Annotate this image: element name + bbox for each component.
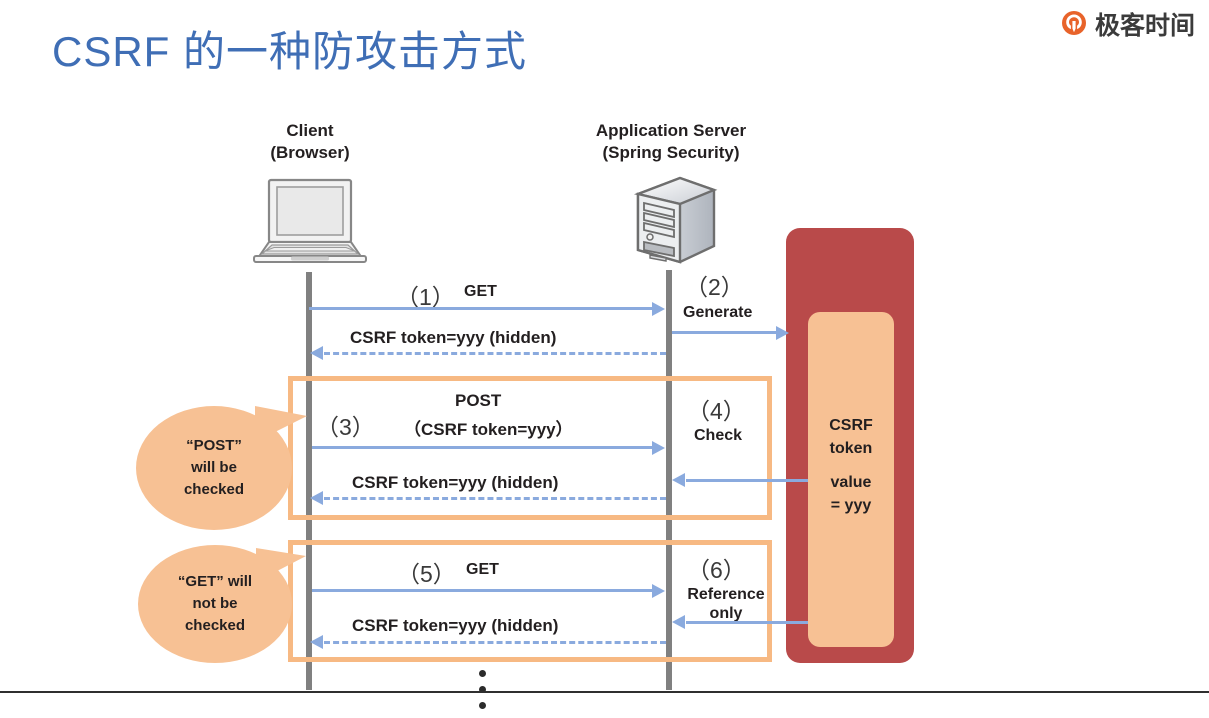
bottom-divider <box>0 691 1209 693</box>
session-title-line1: HTTP <box>786 14 914 37</box>
brand-name: 极客时间 <box>1095 6 1195 42</box>
step-3-label: POST <box>455 391 501 411</box>
step-1-label: GET <box>464 283 497 301</box>
arrow-5-line <box>312 589 654 592</box>
arrow-3-head <box>652 441 665 455</box>
slide-canvas: CSRF 的一种防攻击方式 极客时间 Client (Browser) Appl… <box>0 0 1209 702</box>
reply-1-line <box>324 352 666 355</box>
step-3-number: （3） <box>316 408 375 442</box>
actor-label-client: Client (Browser) <box>230 120 390 164</box>
session-token-line3: value <box>808 472 894 495</box>
bubble-get-tail <box>256 548 306 582</box>
reply-2-label: CSRF token=yyy (hidden) <box>352 473 558 493</box>
arrow-6-line <box>686 621 808 624</box>
step-6-sublabel: Reference only <box>676 585 776 623</box>
laptop-icon <box>252 178 368 264</box>
step-3-label2: （CSRF token=yyy） <box>404 415 573 440</box>
geektime-logo-icon <box>1059 9 1089 39</box>
arrow-4-line <box>686 479 808 482</box>
step-5-number: （5） <box>397 555 456 589</box>
reply-3-head <box>310 635 323 649</box>
step-2-sublabel: Generate <box>683 303 752 322</box>
arrow-2-line <box>672 331 778 334</box>
session-token-spacer <box>808 460 894 472</box>
reply-3-line <box>324 641 666 644</box>
session-token-line2: token <box>808 438 894 461</box>
arrow-3-line <box>312 446 654 449</box>
session-token-line1: CSRF <box>808 415 894 438</box>
arrow-6-head <box>672 615 685 629</box>
arrow-2-head <box>776 326 789 340</box>
arrow-5-head <box>652 584 665 598</box>
step-5-label: GET <box>466 561 499 579</box>
reply-2-head <box>310 491 323 505</box>
page-title: CSRF 的一种防攻击方式 <box>52 18 527 79</box>
step-4-number: （4） <box>687 392 746 426</box>
http-session-title: HTTP Session <box>786 14 914 59</box>
session-title-line2: Session <box>786 37 914 60</box>
actor-server-line2: (Spring Security) <box>556 142 786 164</box>
step-6-number: （6） <box>687 551 746 585</box>
bubble-post-tail <box>255 406 307 442</box>
arrow-1-line <box>309 307 654 310</box>
arrow-4-head <box>672 473 685 487</box>
continuation-ellipsis <box>479 670 486 718</box>
actor-label-server: Application Server (Spring Security) <box>556 120 786 164</box>
reply-1-head <box>310 346 323 360</box>
actor-client-line2: (Browser) <box>230 142 390 164</box>
server-tower-icon <box>628 176 720 266</box>
reply-1-label: CSRF token=yyy (hidden) <box>350 328 556 348</box>
bubble-post-text: “POST” will be checked <box>184 435 244 500</box>
actor-client-line1: Client <box>230 120 390 142</box>
step-2-number: （2） <box>685 268 744 302</box>
reply-2-line <box>324 497 666 500</box>
session-token-line4: = yyy <box>808 495 894 518</box>
bubble-get-text: “GET” will not be checked <box>178 571 252 636</box>
session-token-text: CSRF token value = yyy <box>808 415 894 518</box>
actor-server-line1: Application Server <box>556 120 786 142</box>
step-4-sublabel: Check <box>694 426 742 445</box>
reply-3-label: CSRF token=yyy (hidden) <box>352 616 558 636</box>
arrow-1-head <box>652 302 665 316</box>
brand-logo: 极客时间 <box>1059 6 1195 42</box>
